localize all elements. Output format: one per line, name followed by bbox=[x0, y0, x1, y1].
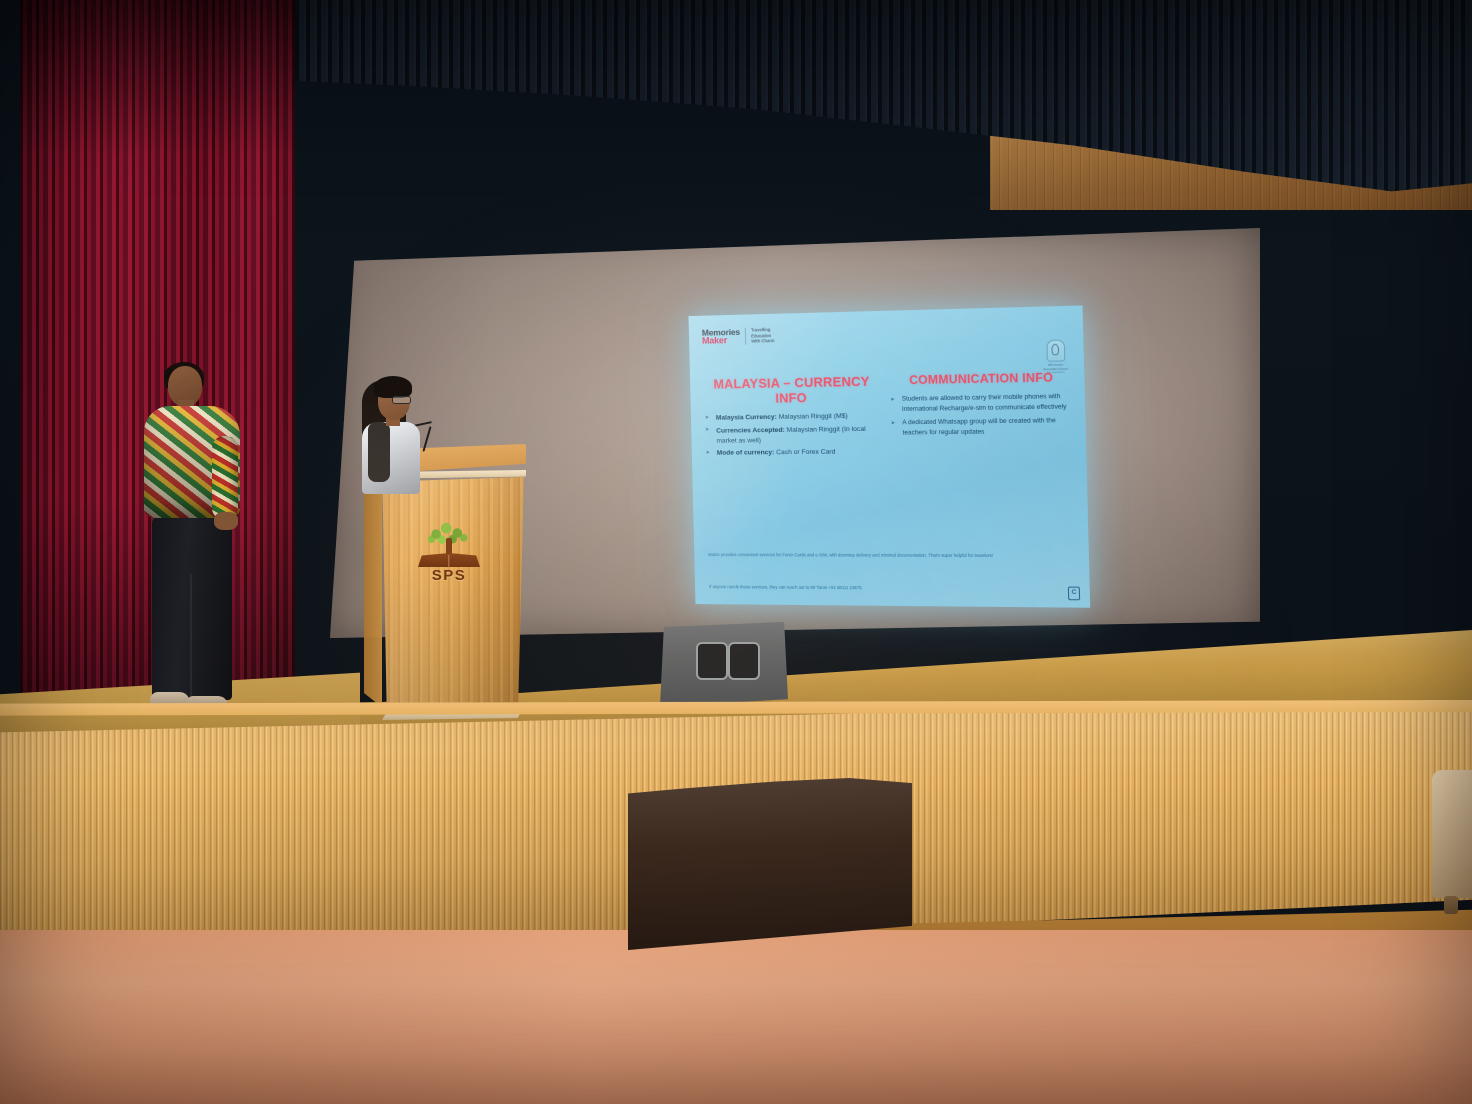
attendee-hands bbox=[214, 512, 238, 530]
hall-floor bbox=[0, 930, 1472, 1104]
sofa-leg bbox=[1444, 896, 1458, 914]
bullet-label: Mode of currency: bbox=[717, 449, 775, 457]
monitor-handle-left-icon bbox=[696, 642, 728, 680]
brand-divider bbox=[745, 328, 746, 345]
crest-badge-icon bbox=[1046, 339, 1065, 361]
slide-column-currency: MALAYSIA – CURRENCY INFO Malaysia Curren… bbox=[690, 374, 885, 461]
list-item: Malaysia Currency: Malaysian Ringgit (M$… bbox=[705, 411, 881, 424]
speaker-scarf bbox=[368, 422, 390, 482]
speaker-at-podium bbox=[356, 374, 434, 494]
brand-tagline: Travelling Education With Charm bbox=[751, 327, 775, 344]
slide-footnote-matrix: Matrix provides convenient services for … bbox=[708, 552, 1074, 560]
sofa-arm bbox=[1432, 770, 1472, 930]
memories-maker-logo: Memories Maker Travelling Education With… bbox=[702, 327, 775, 346]
slide-title-communication: COMMUNICATION INFO bbox=[890, 371, 1074, 388]
open-book-icon bbox=[418, 553, 480, 567]
list-item: Currencies Accepted: Malaysian Ringgit (… bbox=[705, 424, 881, 446]
communication-bullet-list: Students are allowed to carry their mobi… bbox=[890, 392, 1075, 439]
currency-bullet-list: Malaysia Currency: Malaysian Ringgit (M$… bbox=[705, 411, 881, 459]
bullet-label: Malaysia Currency: bbox=[716, 414, 777, 422]
school-crest-logo: SPS Senior Secondary School Est. Excelle… bbox=[1041, 339, 1070, 375]
slide-title-currency: MALAYSIA – CURRENCY INFO bbox=[704, 374, 880, 407]
slide-column-communication: COMMUNICATION INFO Students are allowed … bbox=[883, 370, 1086, 460]
slide-footnote-contact: If anyone needs these services, they can… bbox=[709, 584, 1057, 593]
attendee-trousers bbox=[152, 514, 232, 700]
tree-icon bbox=[418, 522, 480, 556]
brand-line-2: Maker bbox=[702, 336, 740, 345]
attendee-arm bbox=[212, 436, 238, 520]
slide-columns: MALAYSIA – CURRENCY INFO Malaysia Curren… bbox=[690, 370, 1086, 461]
projected-slide: Memories Maker Travelling Education With… bbox=[689, 305, 1091, 607]
speaker-hair-top bbox=[374, 376, 412, 398]
monitor-handle-right-icon bbox=[728, 642, 760, 680]
list-item: A dedicated Whatsapp group will be creat… bbox=[891, 416, 1075, 439]
podium-side-panel bbox=[364, 474, 382, 712]
sofa-armrest bbox=[1432, 770, 1472, 898]
list-item: Mode of currency: Cash or Forex Card bbox=[706, 447, 882, 459]
auditorium-photo: Memories Maker Travelling Education With… bbox=[0, 0, 1472, 1104]
glasses-icon bbox=[392, 396, 411, 404]
bullet-text: Cash or Forex Card bbox=[774, 449, 835, 457]
bullet-text: Malaysian Ringgit (M$) bbox=[777, 413, 848, 421]
floor-mat bbox=[628, 778, 912, 950]
standing-attendee bbox=[140, 362, 250, 718]
bullet-label: Currencies Accepted: bbox=[716, 427, 785, 435]
bullet-text: A dedicated Whatsapp group will be creat… bbox=[902, 417, 1056, 437]
sps-crest: SPS bbox=[418, 522, 480, 583]
bullet-text: Students are allowed to carry their mobi… bbox=[902, 393, 1067, 413]
sps-crest-label: SPS bbox=[418, 568, 480, 583]
slide-corner-mark: C bbox=[1068, 587, 1080, 601]
list-item: Students are allowed to carry their mobi… bbox=[890, 392, 1074, 416]
podium-front-panel bbox=[378, 477, 524, 712]
